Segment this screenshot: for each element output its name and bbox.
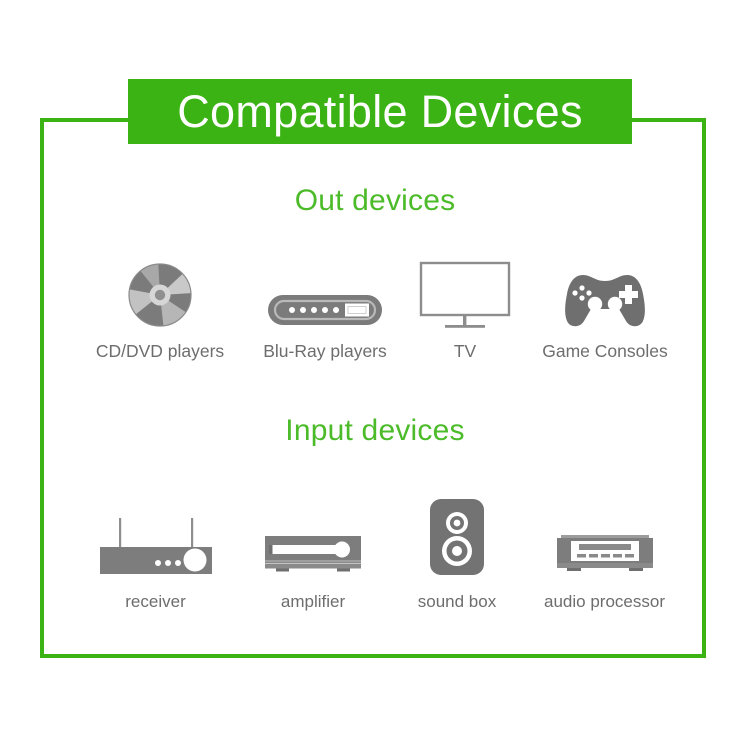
device-label: CD/DVD players xyxy=(96,343,224,361)
device-cd-dvd-players: CD/DVD players xyxy=(74,250,246,360)
device-sound-box: sound box xyxy=(389,485,525,610)
device-label: amplifier xyxy=(281,593,345,610)
device-tv: TV xyxy=(404,250,526,360)
device-blu-ray-players: Blu-Ray players xyxy=(246,250,404,360)
device-receiver: receiver xyxy=(74,485,237,610)
device-game-consoles: Game Consoles xyxy=(526,250,684,360)
amplifier-icon xyxy=(263,498,363,576)
device-label: receiver xyxy=(125,593,185,610)
tv-monitor-icon xyxy=(419,253,511,331)
device-label: sound box xyxy=(418,593,496,610)
device-label: audio processor xyxy=(544,593,665,610)
title-banner: Compatible Devices xyxy=(128,79,632,144)
game-controller-icon xyxy=(561,253,649,331)
device-amplifier: amplifier xyxy=(237,485,389,610)
device-label: TV xyxy=(454,343,476,361)
device-label: Game Consoles xyxy=(542,343,667,361)
av-receiver-icon xyxy=(98,498,214,576)
input-devices-row: receiver amplifier xyxy=(74,485,684,610)
speaker-box-icon xyxy=(428,498,486,576)
device-audio-processor: audio processor xyxy=(525,485,684,610)
cd-dvd-disc-icon xyxy=(124,253,196,331)
page-title: Compatible Devices xyxy=(177,89,583,134)
blu-ray-player-icon xyxy=(267,253,383,331)
section-heading-input: Input devices xyxy=(0,414,750,448)
compatible-devices-poster: Compatible Devices Out devices xyxy=(0,0,750,750)
audio-processor-icon xyxy=(555,498,655,576)
output-devices-row: CD/DVD players Blu-R xyxy=(74,250,684,360)
device-label: Blu-Ray players xyxy=(263,343,387,361)
section-heading-output: Out devices xyxy=(0,184,750,218)
